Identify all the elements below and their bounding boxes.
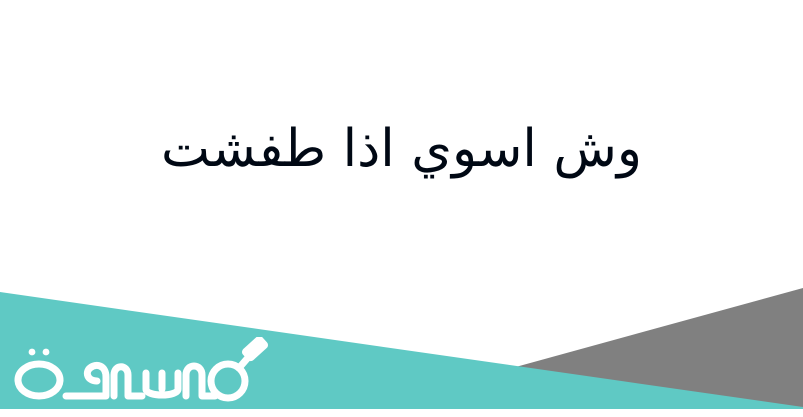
featured-image-card: وش اسوي اذا طفشت — [0, 0, 803, 417]
site-logo[interactable] — [10, 337, 272, 409]
logo-glyph-waw-1 — [114, 367, 142, 396]
logo-glyph-seen — [146, 373, 178, 395]
logo-wordmark — [18, 353, 252, 398]
site-logo-mark — [10, 337, 272, 409]
headline-area: وش اسوي اذا طفشت — [0, 0, 803, 290]
gray-triangle — [512, 288, 803, 409]
logo-glyph-taa-marbuta — [18, 364, 60, 396]
page-title: وش اسوي اذا طفشت — [161, 117, 642, 182]
logo-glyph-ain — [66, 365, 106, 396]
logo-glyph-taa-dots — [29, 349, 50, 356]
